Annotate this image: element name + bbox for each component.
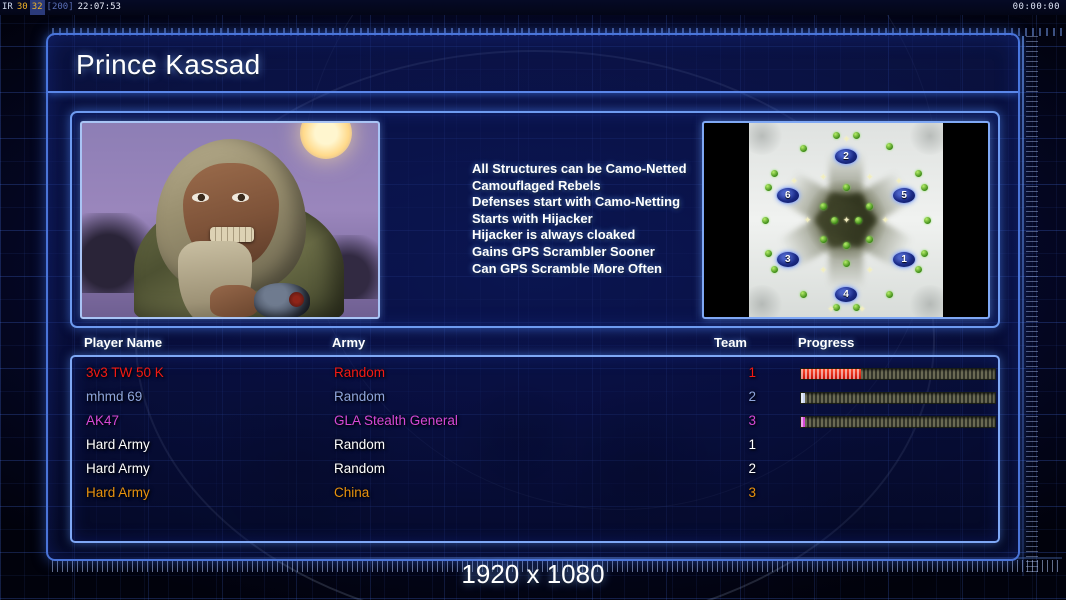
portrait-eye-left xyxy=(192,193,209,202)
player-team: 2 xyxy=(746,461,756,476)
map-start-position-3[interactable]: 3 xyxy=(776,251,800,268)
map-supply-marker: ✦ xyxy=(881,216,890,225)
map-supply-marker: ✦ xyxy=(858,305,867,314)
map-resource-node xyxy=(915,266,922,273)
game-lobby-screen: IR3032[200]22:07:53 00:00:00 Prince Kass… xyxy=(0,0,1066,600)
ruler-right xyxy=(1026,36,1038,576)
map-preview[interactable]: ✦✦✦✦✦✦✦✦✦✦✦✦✦✦265314 xyxy=(702,121,990,319)
table-row[interactable]: 3v3 TW 50 KRandom1 xyxy=(72,362,998,386)
map-resource-node xyxy=(800,291,807,298)
map-supply-marker: ✦ xyxy=(842,216,851,225)
portrait-teapot xyxy=(254,283,310,319)
map-resource-node xyxy=(921,250,928,257)
map-resource-node xyxy=(771,170,778,177)
player-name: Hard Army xyxy=(86,485,150,500)
map-start-position-5[interactable]: 5 xyxy=(892,187,916,204)
map-supply-marker: ✦ xyxy=(894,177,903,186)
map-start-position-6[interactable]: 6 xyxy=(776,187,800,204)
map-resource-node xyxy=(765,184,772,191)
table-row[interactable]: Hard ArmyRandom2 xyxy=(72,458,998,482)
map-resource-node xyxy=(843,260,850,267)
page-title: Prince Kassad xyxy=(76,49,260,81)
status-number-2: 32 xyxy=(30,0,45,15)
player-army: GLA Stealth General xyxy=(334,413,458,428)
map-resource-node xyxy=(921,184,928,191)
status-timestamp: 22:07:53 xyxy=(76,0,123,15)
status-number-1: 30 xyxy=(15,0,30,15)
map-corner-tr xyxy=(909,123,943,155)
player-army: Random xyxy=(334,365,385,380)
player-name: Hard Army xyxy=(86,437,150,452)
map-supply-marker: ✦ xyxy=(819,173,828,182)
map-corner-br xyxy=(909,285,943,317)
map-resource-node xyxy=(765,250,772,257)
map-resource-node xyxy=(771,266,778,273)
player-team: 3 xyxy=(746,413,756,428)
map-corner-tl xyxy=(749,123,783,155)
player-team: 3 xyxy=(746,485,756,500)
portrait-hand xyxy=(210,285,258,317)
progress-bar xyxy=(800,368,996,380)
map-resource-node xyxy=(924,217,931,224)
player-name: 3v3 TW 50 K xyxy=(86,365,164,380)
map-supply-marker: ✦ xyxy=(865,266,874,275)
progress-bar-fill xyxy=(801,369,861,379)
column-header-player-name: Player Name xyxy=(84,335,162,350)
portrait-eye-right xyxy=(232,193,249,202)
column-header-team: Team xyxy=(714,335,747,350)
map-supply-marker: ✦ xyxy=(803,216,812,225)
player-list-panel: 3v3 TW 50 KRandom1mhmd 69Random2AK47GLA … xyxy=(70,355,1000,543)
progress-bar xyxy=(800,392,996,404)
map-resource-node xyxy=(800,145,807,152)
player-table-header: Player Name Army Team Progress xyxy=(70,335,1000,355)
clock-readout: 00:00:00 xyxy=(1013,0,1060,15)
map-supply-marker: ✦ xyxy=(826,305,835,314)
map-resource-node xyxy=(853,132,860,139)
general-info-panel: All Structures can be Camo-NettedCamoufl… xyxy=(70,111,1000,328)
portrait-mouth xyxy=(210,227,254,242)
map-resource-node xyxy=(886,143,893,150)
table-row[interactable]: mhmd 69Random2 xyxy=(72,386,998,410)
minimap-canvas: ✦✦✦✦✦✦✦✦✦✦✦✦✦✦265314 xyxy=(749,123,943,317)
map-start-position-2[interactable]: 2 xyxy=(834,148,858,165)
general-portrait xyxy=(80,121,380,319)
player-army: Random xyxy=(334,389,385,404)
main-panel: Prince Kassad All Structures can be Camo xyxy=(46,33,1020,561)
player-name: mhmd 69 xyxy=(86,389,142,404)
map-resource-node xyxy=(762,217,769,224)
map-resource-node xyxy=(886,291,893,298)
column-header-progress: Progress xyxy=(798,335,854,350)
map-supply-marker: ✦ xyxy=(790,177,799,186)
top-status-bar: IR3032[200]22:07:53 00:00:00 xyxy=(0,0,1066,15)
table-row[interactable]: Hard ArmyChina3 xyxy=(72,482,998,506)
progress-bar-fill xyxy=(801,393,805,403)
map-supply-marker: ✦ xyxy=(865,173,874,182)
table-row[interactable]: AK47GLA Stealth General3 xyxy=(72,410,998,434)
player-name: Hard Army xyxy=(86,461,150,476)
player-army: China xyxy=(334,485,369,500)
header-band: Prince Kassad xyxy=(48,35,1018,93)
map-resource-node xyxy=(833,132,840,139)
status-tag: IR xyxy=(0,0,15,15)
map-resource-node xyxy=(843,184,850,191)
table-row[interactable]: Hard ArmyRandom1 xyxy=(72,434,998,458)
map-supply-marker: ✦ xyxy=(842,135,851,144)
map-start-position-4[interactable]: 4 xyxy=(834,286,858,303)
player-army: Random xyxy=(334,437,385,452)
map-supply-marker: ✦ xyxy=(819,266,828,275)
map-resource-node xyxy=(915,170,922,177)
status-number-3: [200] xyxy=(45,0,76,15)
player-name: AK47 xyxy=(86,413,119,428)
player-team: 1 xyxy=(746,437,756,452)
resolution-label: 1920 x 1080 xyxy=(0,559,1066,590)
map-resource-node xyxy=(855,217,862,224)
player-team: 2 xyxy=(746,389,756,404)
column-header-army: Army xyxy=(332,335,365,350)
progress-bar-fill xyxy=(801,417,805,427)
sun-icon xyxy=(300,121,352,159)
map-start-position-1[interactable]: 1 xyxy=(892,251,916,268)
map-corner-bl xyxy=(749,285,783,317)
player-team: 1 xyxy=(746,365,756,380)
player-army: Random xyxy=(334,461,385,476)
progress-bar xyxy=(800,416,996,428)
